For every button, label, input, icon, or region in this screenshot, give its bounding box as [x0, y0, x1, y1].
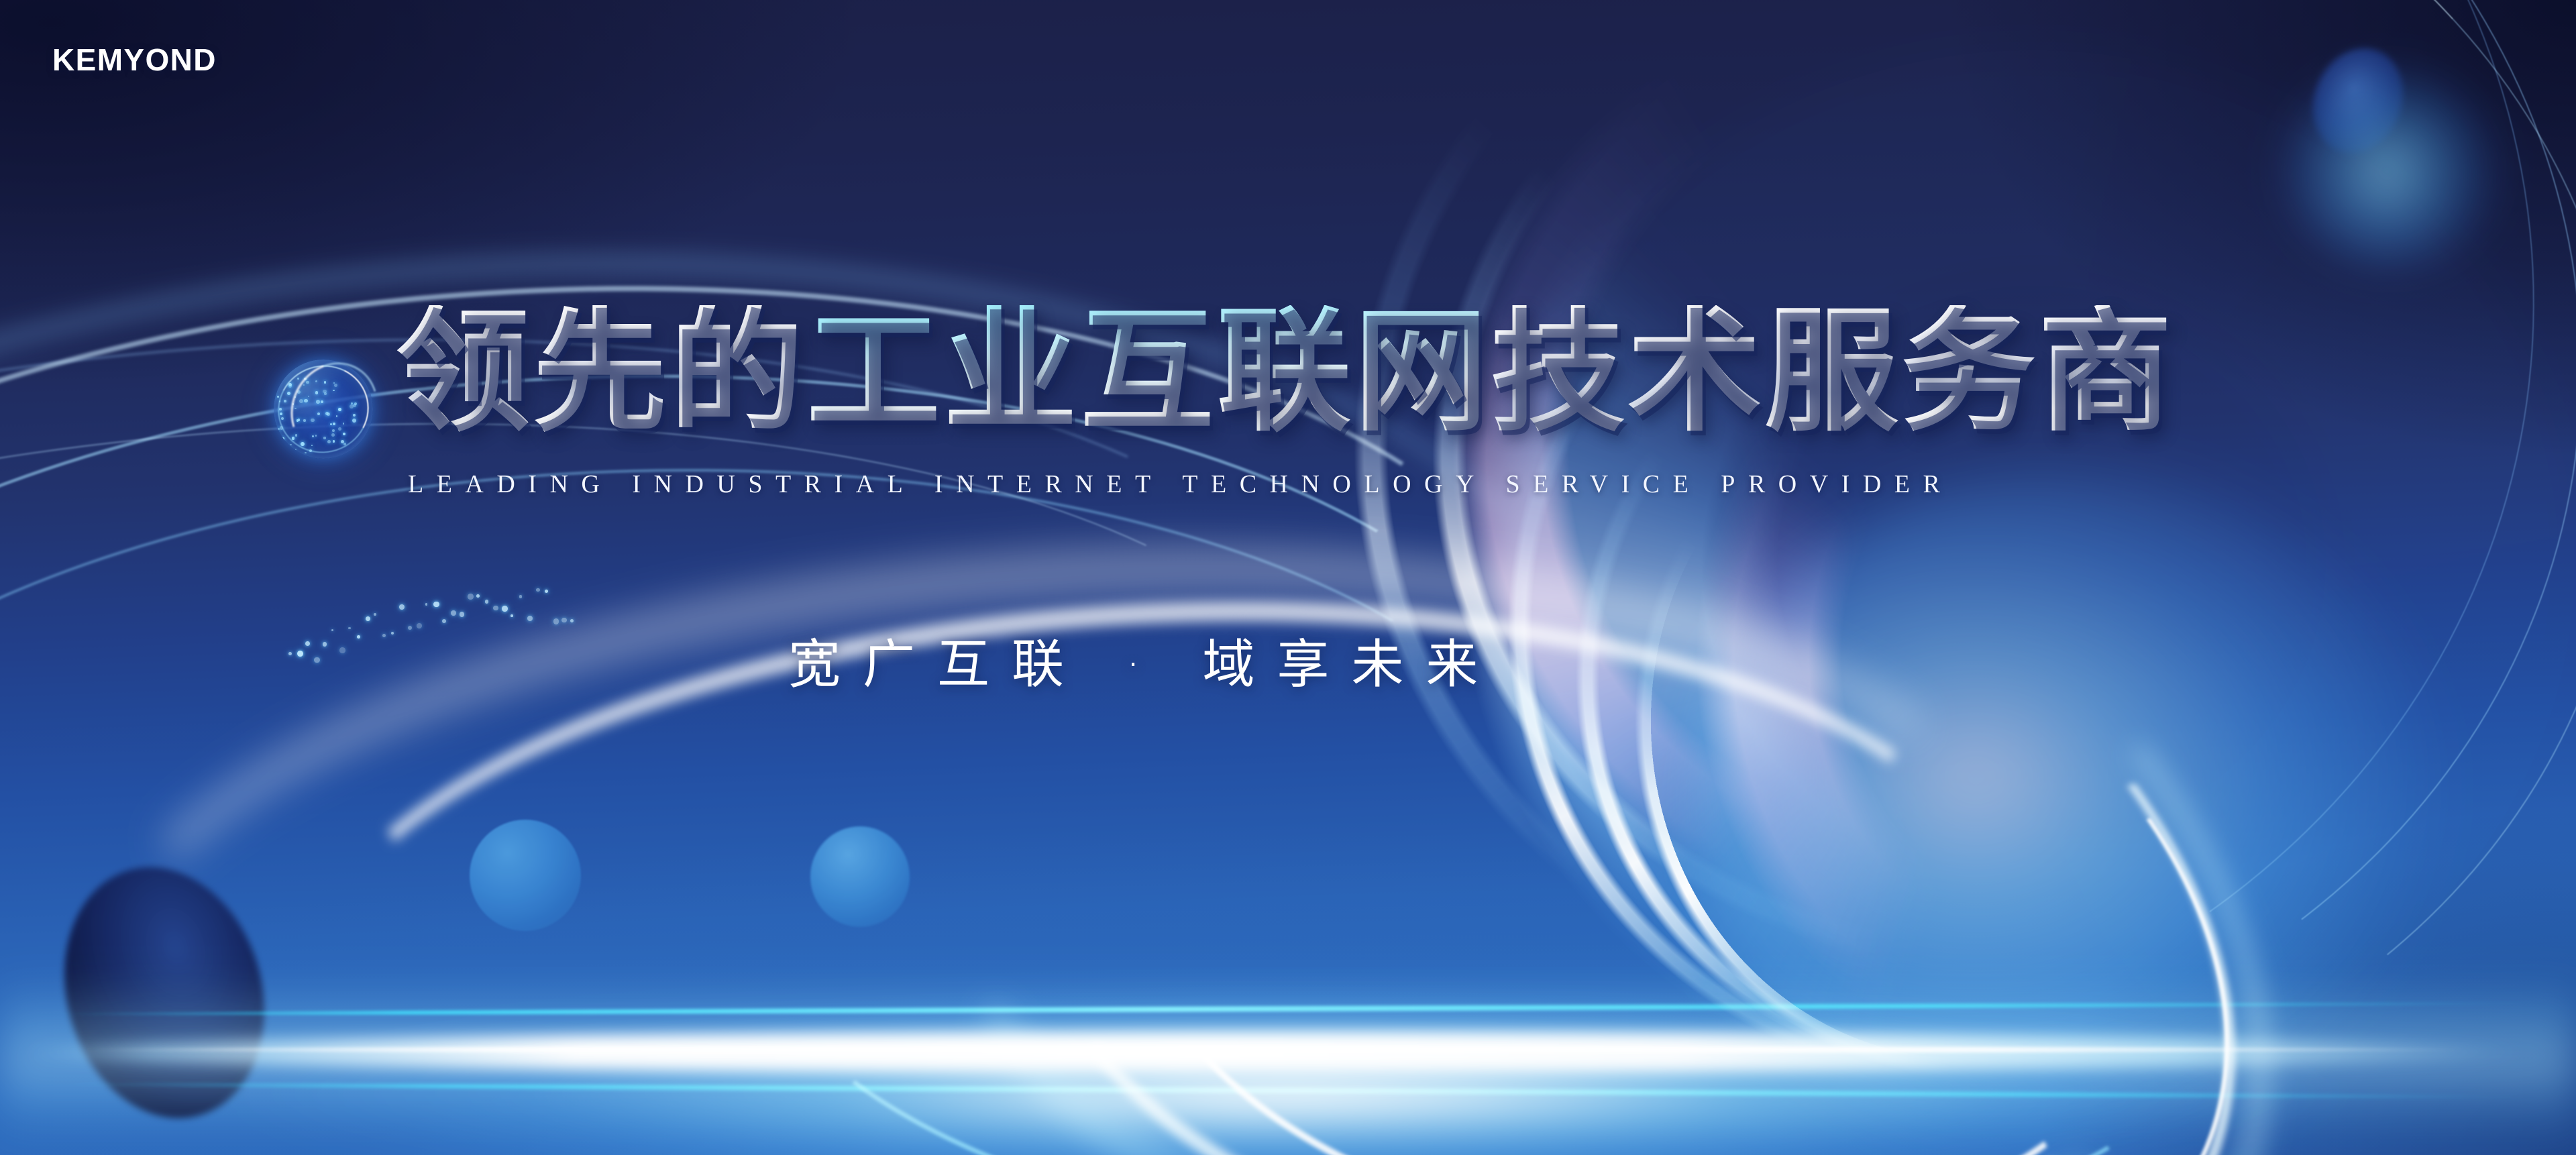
headline-segment-3: 技术服务商: [1491, 305, 2175, 439]
page-title: 领先的工业互联网技术服务商: [396, 305, 2175, 439]
brand-logo[interactable]: KEMYOND: [52, 42, 217, 78]
glow-top-right: [2281, 67, 2502, 268]
sphere-blue-small: [810, 826, 910, 927]
tagline: 宽广互联 · 域享未来: [788, 622, 1500, 698]
subtitle-english: LEADING INDUSTRIAL INTERNET TECHNOLOGY S…: [408, 470, 1953, 499]
light-streak-thin: [80, 1046, 2469, 1053]
hero-banner: KEMYOND 领先的工业互联网技术服务商 LEADING INDUSTRIAL…: [0, 0, 2576, 1155]
network-globe-icon: [274, 360, 373, 459]
headline-segment-2: 工业互联网: [806, 305, 1491, 439]
particle-dots: [288, 577, 570, 684]
headline-segment-1: 领先的: [396, 305, 806, 439]
sphere-blue-mid: [470, 820, 581, 931]
